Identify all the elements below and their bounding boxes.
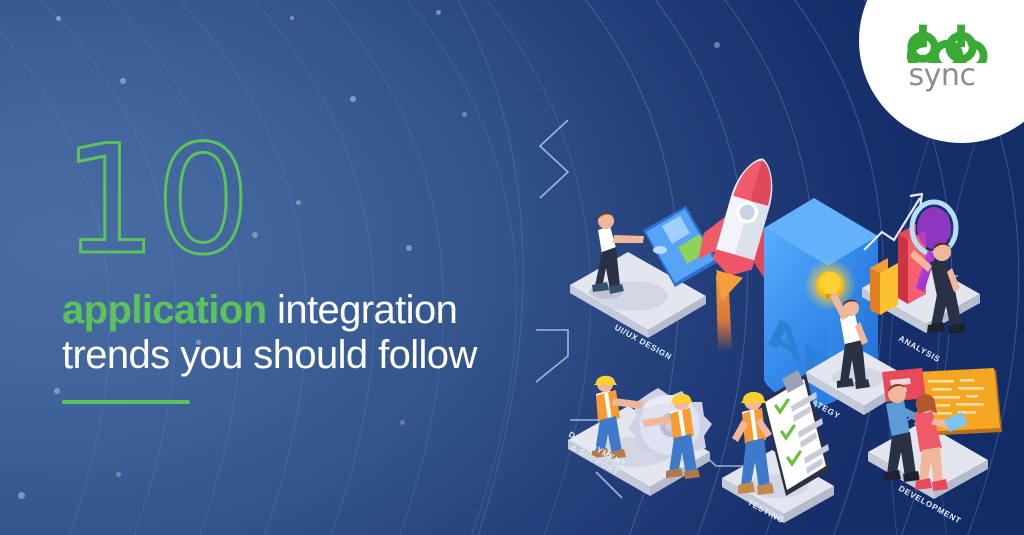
decor-dot — [400, 420, 405, 425]
headline-line1-rest: integration — [267, 288, 458, 332]
stage-label-analysis: ANALYSIS — [897, 334, 942, 364]
decor-dot — [120, 78, 126, 84]
headline-number: 10 — [62, 132, 532, 280]
stage-uiux: UI/UX DESIGN — [570, 206, 718, 362]
decor-dot — [350, 96, 356, 102]
decor-dot — [54, 388, 60, 394]
brand-logo[interactable]: sync — [882, 14, 1002, 98]
decor-dot — [436, 10, 441, 15]
decor-dot — [116, 472, 121, 477]
decor-dot — [290, 16, 294, 20]
stage-development: DEVELOPMENT — [868, 368, 1002, 526]
db-infinity-icon — [890, 21, 994, 63]
stage-analysis: ANALYSIS — [862, 194, 980, 364]
headline-line-2: trends you should follow — [62, 332, 532, 378]
decor-dot — [462, 112, 467, 117]
headline-block: 10 application integration trends you sh… — [62, 132, 532, 404]
brand-name-sync: sync — [909, 61, 976, 91]
banner-root: 10 application integration trends you sh… — [0, 0, 1024, 535]
decor-dot — [18, 492, 25, 499]
decor-dot — [56, 16, 61, 21]
headline-line-1: application integration — [62, 288, 532, 332]
headline-underline — [62, 400, 190, 404]
headline-strong-word: application — [62, 288, 267, 332]
stage-deployment: DEPLOYMENT & SUPPORT — [567, 376, 712, 496]
